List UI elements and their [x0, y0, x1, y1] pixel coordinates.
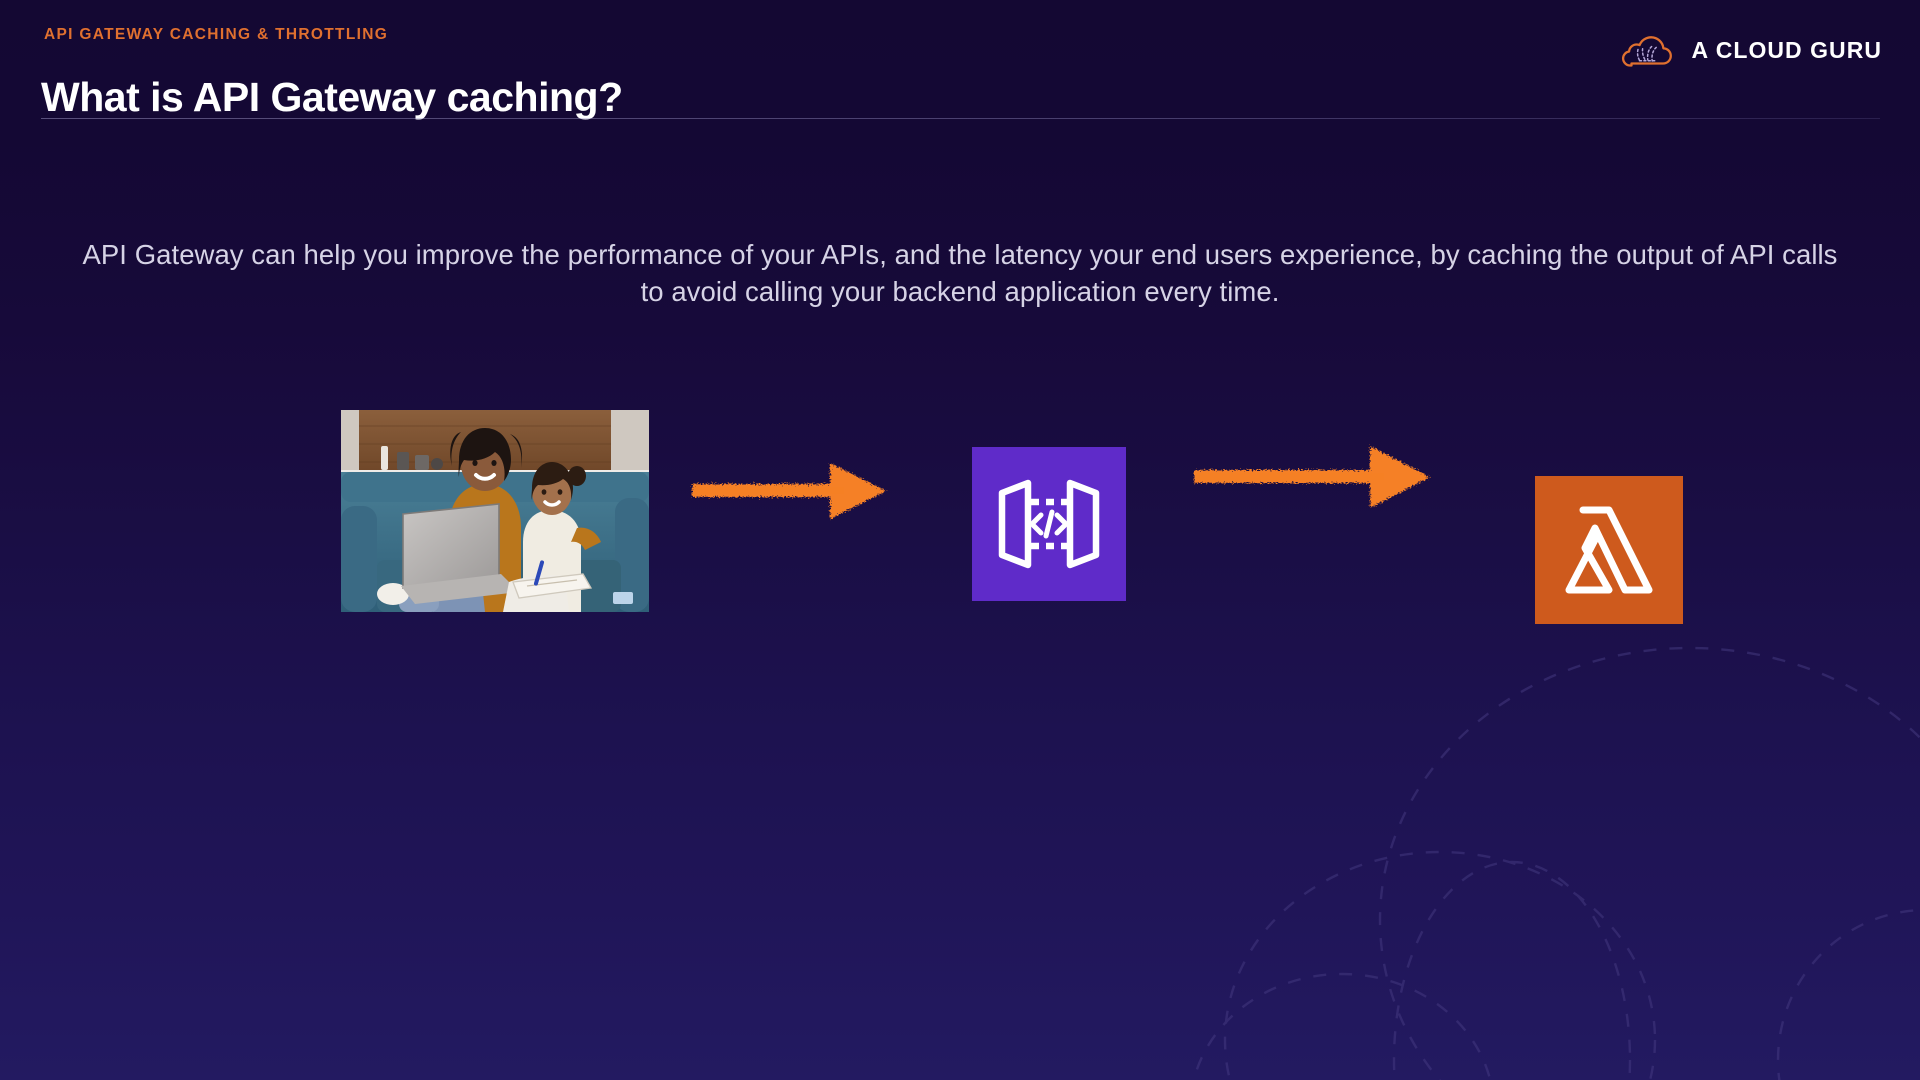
slide: API GATEWAY CACHING & THROTTLING What is… — [0, 0, 1920, 1080]
end-users-photo — [341, 410, 649, 612]
aws-lambda-icon — [1535, 476, 1683, 624]
arrow-users-to-apigw-icon — [690, 455, 930, 527]
arrow-apigw-to-lambda-icon — [1192, 440, 1477, 516]
architecture-diagram — [0, 0, 1920, 1080]
aws-api-gateway-icon — [972, 447, 1126, 601]
